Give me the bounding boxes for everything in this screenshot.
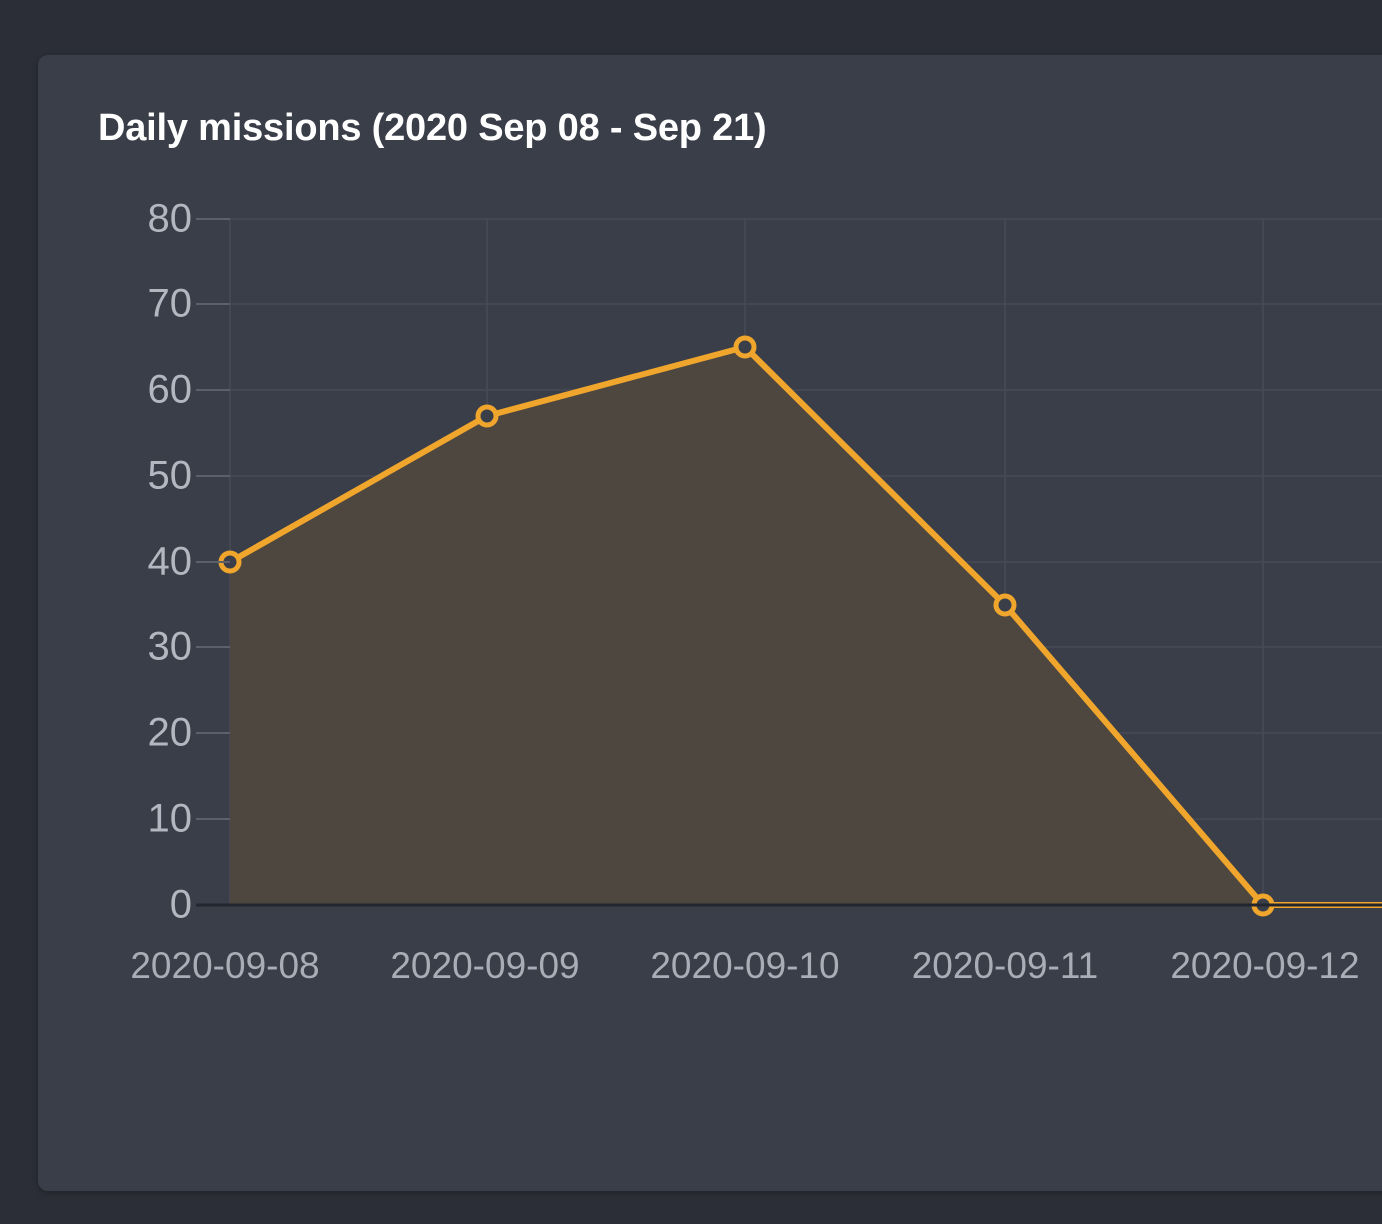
- chart-title: Daily missions (2020 Sep 08 - Sep 21): [98, 107, 766, 150]
- chart-screen: Daily missions (2020 Sep 08 - Sep 21): [0, 0, 1382, 1224]
- chart-panel: Daily missions (2020 Sep 08 - Sep 21): [38, 55, 1382, 1191]
